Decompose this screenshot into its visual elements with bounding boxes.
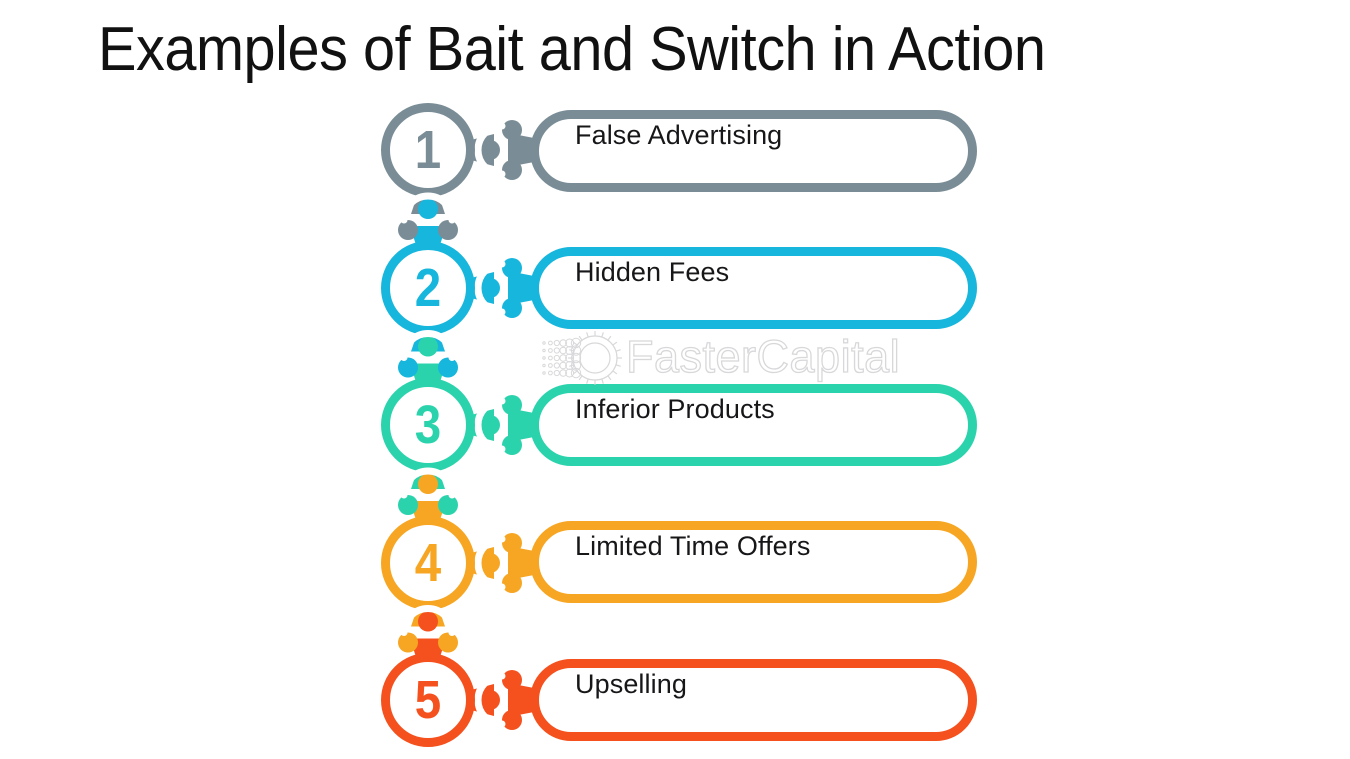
step-label-1: False Advertising: [575, 120, 782, 150]
diagram-shapes: [0, 0, 1350, 759]
step-number-3: 3: [386, 398, 470, 452]
connector-horizontal-3: [471, 395, 534, 455]
step-label-3: Inferior Products: [575, 394, 775, 424]
step-number-5: 5: [386, 673, 470, 727]
connector-horizontal-4: [471, 533, 534, 593]
step-number-4: 4: [386, 536, 470, 590]
step-label-2: Hidden Fees: [575, 257, 729, 287]
connector-horizontal-5: [471, 670, 534, 730]
connector-horizontal-1: [471, 120, 534, 180]
connector-vertical-2-3: [398, 331, 458, 382]
connector-vertical-3-4: [398, 468, 458, 520]
step-label-4: Limited Time Offers: [575, 531, 810, 561]
connector-vertical-1-2: [398, 193, 458, 245]
step-label-5: Upselling: [575, 669, 687, 699]
connector-horizontal-2: [471, 258, 534, 318]
slide-canvas: Examples of Bait and Switch in Action 1F…: [0, 0, 1350, 759]
bait-and-switch-diagram: 1False Advertising2Hidden Fees3Inferior …: [0, 0, 1350, 759]
connector-vertical-4-5: [398, 606, 458, 657]
step-number-1: 1: [386, 123, 470, 177]
step-number-2: 2: [386, 261, 470, 315]
